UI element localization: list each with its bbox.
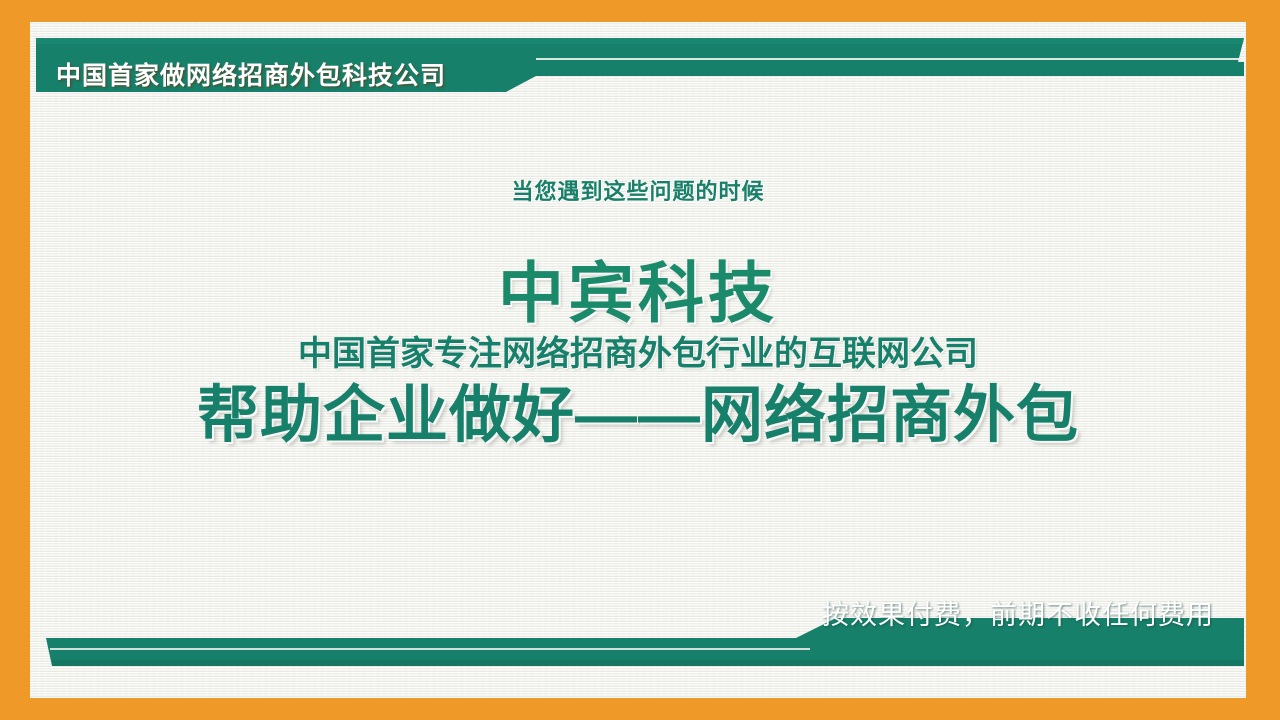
- header-title: 中国首家做网络招商外包科技公司: [56, 56, 446, 92]
- header-banner-shape: [36, 38, 1244, 92]
- slide-root: 中国首家做网络招商外包科技公司 当您遇到这些问题的时候 中宾科技 中国首家专注网…: [0, 0, 1280, 720]
- header-banner-highlight: [36, 38, 1244, 44]
- brand-name: 中宾科技: [30, 260, 1246, 326]
- footer-banner-hairline: [50, 648, 810, 650]
- header-banner-hairline: [536, 58, 1242, 60]
- slide-paper-panel: 中国首家做网络招商外包科技公司 当您遇到这些问题的时候 中宾科技 中国首家专注网…: [30, 22, 1246, 698]
- headline-text: 帮助企业做好——网络招商外包: [30, 380, 1246, 451]
- header-banner: 中国首家做网络招商外包科技公司: [36, 34, 1244, 94]
- footer-banner-shade: [52, 660, 1244, 666]
- footer-banner: 按效果付费，前期不收任何费用: [36, 616, 1244, 672]
- footer-note: 按效果付费，前期不收任何费用: [822, 593, 1214, 632]
- eyebrow-text: 当您遇到这些问题的时候: [30, 174, 1246, 206]
- footer-banner-shape: [46, 618, 1244, 666]
- tagline-text: 中国首家专注网络招商外包行业的互联网公司: [30, 336, 1246, 373]
